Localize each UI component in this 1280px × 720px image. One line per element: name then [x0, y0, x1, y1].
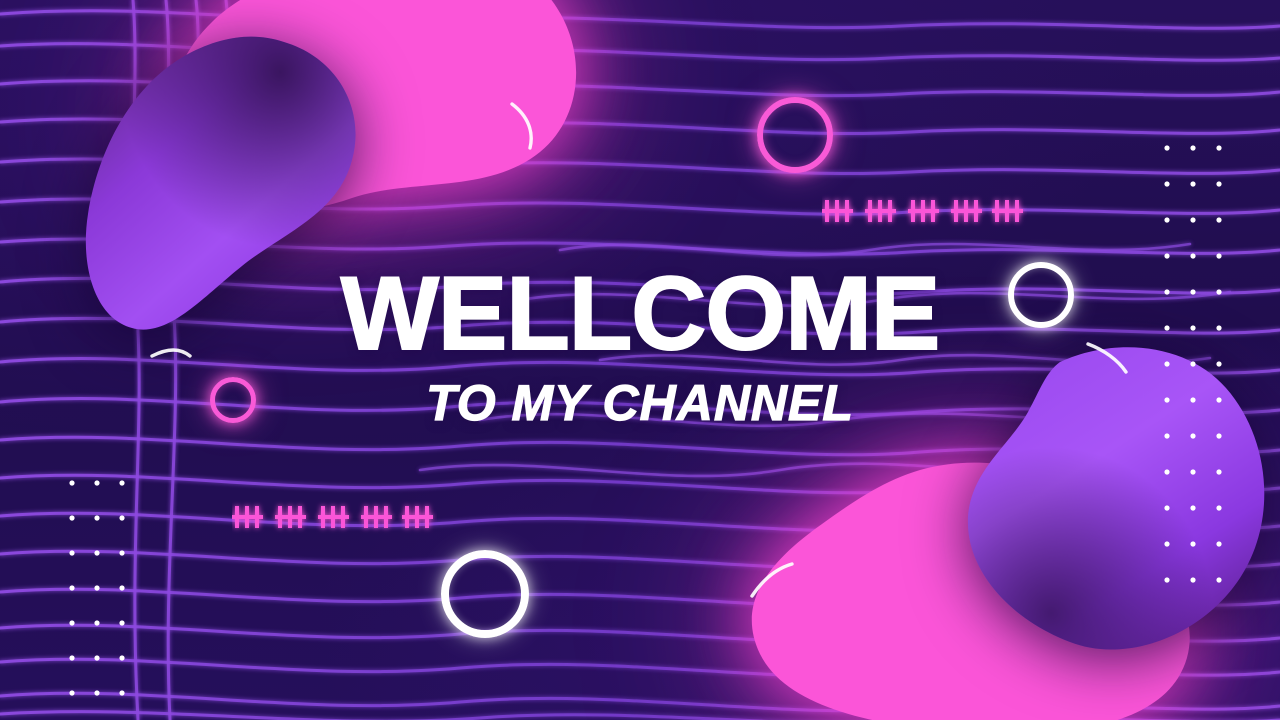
dot-grid-left	[66, 477, 136, 720]
tally-top-right	[822, 192, 1027, 230]
poster-canvas: WELLCOME TO MY CHANNEL	[0, 0, 1280, 720]
ring-white-bottom	[441, 550, 529, 638]
ring-pink-top-right	[757, 97, 833, 173]
ring-pink-left	[210, 377, 256, 423]
blob-purple-top-left	[76, 28, 386, 358]
tally-bottom-left	[232, 498, 437, 536]
dot-grid-right	[1161, 142, 1231, 592]
ring-white-right	[1008, 262, 1074, 328]
